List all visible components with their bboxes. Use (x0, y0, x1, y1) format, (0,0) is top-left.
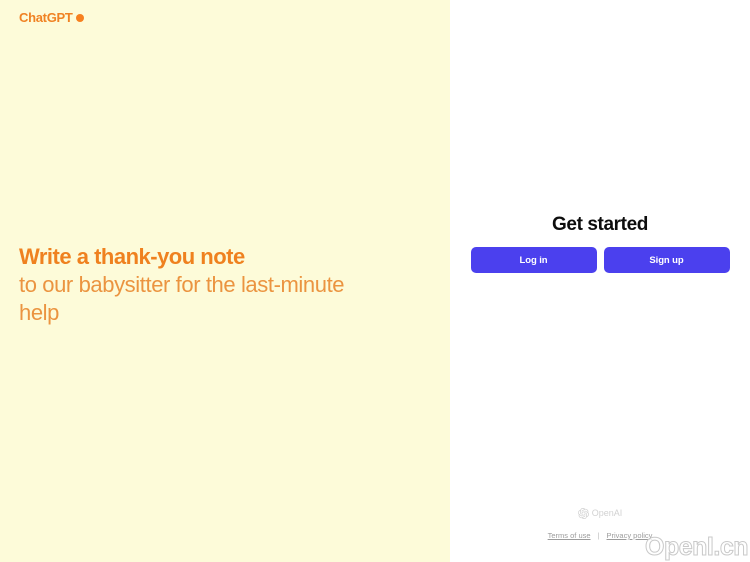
terms-of-use-link[interactable]: Terms of use (548, 531, 591, 540)
login-button[interactable]: Log in (471, 247, 597, 273)
chatgpt-brand-lockup[interactable]: ChatGPT (19, 11, 84, 24)
chatgpt-welcome-screen: ChatGPT Write a thank-you note to our ba… (0, 0, 750, 562)
page-title: Get started (552, 215, 648, 234)
footer: OpenAI Terms of use | Privacy policy (450, 508, 750, 540)
openai-lockup: OpenAI (578, 508, 623, 519)
footer-separator: | (598, 531, 600, 540)
footer-links: Terms of use | Privacy policy (548, 531, 653, 540)
chatgpt-wordmark: ChatGPT (19, 11, 73, 24)
auth-button-group: Log in Sign up (471, 247, 730, 273)
promo-panel: ChatGPT Write a thank-you note to our ba… (0, 0, 450, 562)
filled-circle-icon (76, 14, 84, 22)
openai-knot-icon (578, 508, 589, 519)
get-started-block: Get started Log in Sign up (450, 215, 750, 273)
auth-panel: Get started Log in Sign up OpenAI Terms … (450, 0, 750, 562)
promo-headline-soft-line-1: to our babysitter for the last-minute (19, 271, 419, 299)
openai-wordmark: OpenAI (592, 509, 623, 518)
privacy-policy-link[interactable]: Privacy policy (607, 531, 653, 540)
promo-headline-soft-line-2: help (19, 299, 419, 327)
promo-headline: Write a thank-you note to our babysitter… (19, 243, 419, 327)
signup-button[interactable]: Sign up (604, 247, 730, 273)
promo-headline-strong: Write a thank-you note (19, 243, 419, 271)
